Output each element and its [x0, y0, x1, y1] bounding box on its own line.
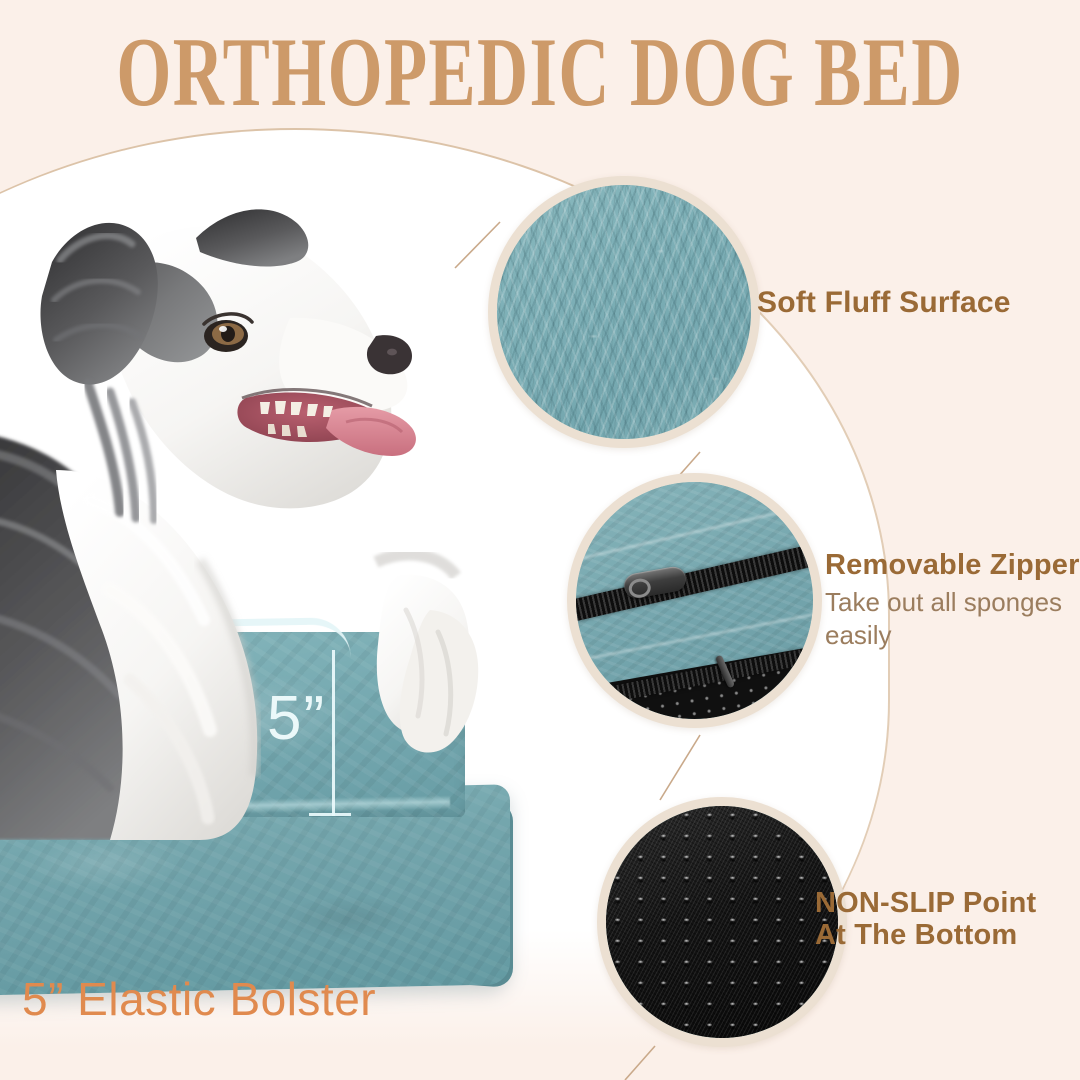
feature-label-removable-zipper: Removable Zipper Take out all sponges ea… [825, 550, 1080, 652]
feature-heading: Soft Fluff Surface [757, 286, 1011, 319]
callout-circle-removable-zipper[interactable] [567, 473, 822, 728]
zipper-texture-swatch [576, 482, 813, 719]
measure-label: 5” [267, 688, 326, 750]
dog-photo [0, 140, 520, 840]
feature-heading-line1: NON-SLIP Point [815, 888, 1036, 920]
callout-circle-non-slip[interactable] [597, 797, 847, 1047]
infographic-canvas: ORTHOPEDIC DOG BED [0, 0, 1080, 1080]
feature-heading: Removable Zipper [825, 550, 1080, 582]
feature-heading-line2: At The Bottom [815, 920, 1036, 952]
nonslip-texture-swatch [606, 806, 838, 1038]
page-title: ORTHOPEDIC DOG BED [38, 17, 1042, 130]
feature-label-non-slip: NON-SLIP Point At The Bottom [815, 888, 1036, 952]
bolster-caption: 5” Elastic Bolster [22, 972, 376, 1026]
fluff-texture-swatch [497, 185, 751, 439]
feature-subtext: Take out all sponges easily [825, 586, 1070, 653]
feature-label-soft-fluff: Soft Fluff Surface [757, 286, 1011, 319]
callout-circle-soft-fluff[interactable] [488, 176, 760, 448]
